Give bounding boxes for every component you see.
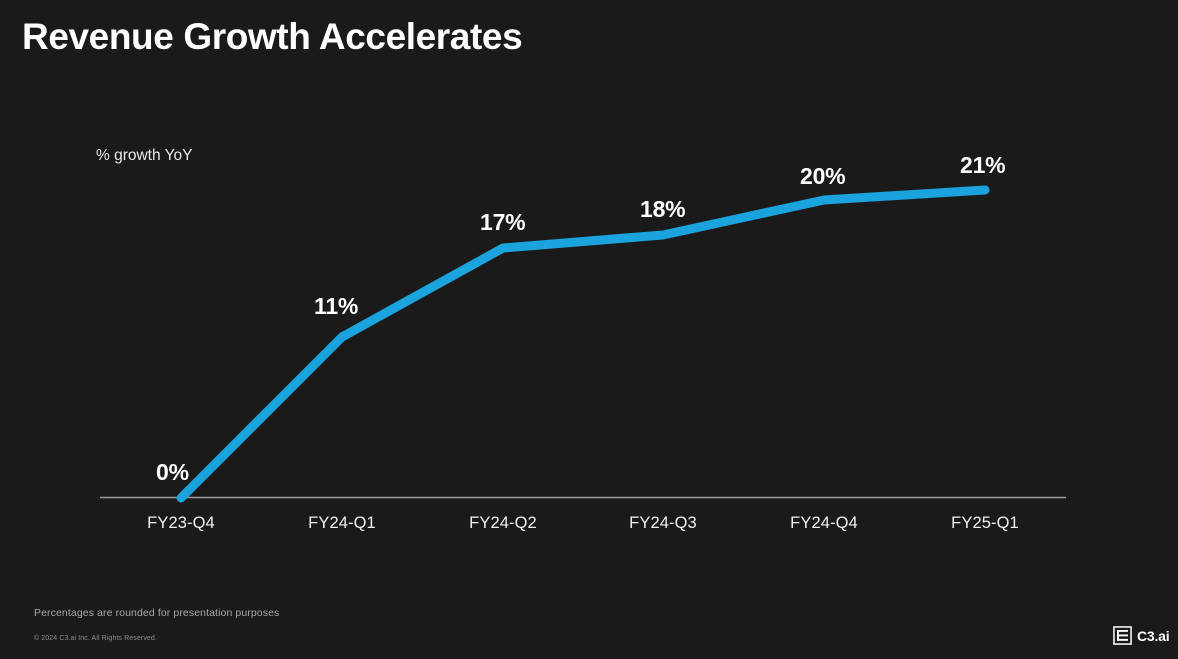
slide-canvas: Revenue Growth Accelerates % growth YoY … <box>0 0 1178 659</box>
copyright-text: © 2024 C3.ai Inc. All Rights Reserved. <box>34 635 157 642</box>
data-label-fy25-q1: 21% <box>960 152 1005 179</box>
data-label-fy23-q4: 0% <box>156 459 189 486</box>
chart-plot-svg <box>0 0 1178 659</box>
x-tick-label-fy23-q4: FY23-Q4 <box>147 514 215 533</box>
data-label-fy24-q2: 17% <box>480 209 525 236</box>
data-label-fy24-q4: 20% <box>800 163 845 190</box>
x-tick-label-fy24-q1: FY24-Q1 <box>308 514 376 533</box>
x-tick-label-fy24-q4: FY24-Q4 <box>790 514 858 533</box>
c3ai-logo-text: C3.ai <box>1137 629 1169 643</box>
x-tick-label-fy25-q1: FY25-Q1 <box>951 514 1019 533</box>
c3ai-logo: C3.ai <box>1113 626 1169 645</box>
x-tick-label-fy24-q3: FY24-Q3 <box>629 514 697 533</box>
revenue-growth-line <box>181 190 985 498</box>
x-tick-label-fy24-q2: FY24-Q2 <box>469 514 537 533</box>
footnote-text: Percentages are rounded for presentation… <box>34 607 279 619</box>
line-chart: 0% 11% 17% 18% 20% 21% FY23-Q4 FY24-Q1 F… <box>0 0 1178 659</box>
data-label-fy24-q3: 18% <box>640 196 685 223</box>
data-label-fy24-q1: 11% <box>314 293 358 320</box>
c3ai-logo-mark-icon <box>1113 626 1132 645</box>
